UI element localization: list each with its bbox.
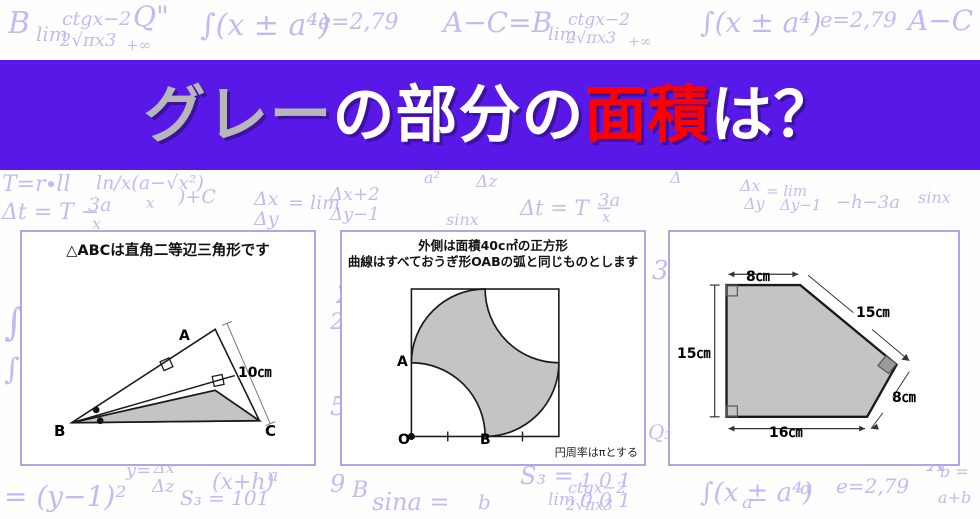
handwriting-formula-52: = (y−1)² <box>4 480 127 513</box>
handwriting-formula-26: 3a <box>88 194 111 216</box>
handwriting-formula-25: Δt = T − <box>2 200 99 225</box>
handwriting-formula-16: T=r∙ll <box>2 172 70 197</box>
problem-panel-1[interactable]: △ABCは直角二等辺三角形です A B C 10㎝ <box>20 230 316 466</box>
title-segment-2: 面積 <box>585 78 711 151</box>
handwriting-formula-74: 2√πx3 <box>566 496 613 514</box>
title-banner: グレーの部分の面積は？ <box>0 60 980 170</box>
page-title: グレーの部分の面積は？ <box>143 84 836 146</box>
handwriting-formula-28: sinx <box>446 210 479 229</box>
title-segment-3: は？ <box>711 78 837 151</box>
vertex-label-b: B <box>54 422 65 440</box>
title-segment-1: の部分の <box>332 78 584 151</box>
angle-dot-1 <box>93 407 100 414</box>
dimension-label-diagonal-upper: 15㎝ <box>856 302 889 322</box>
handwriting-formula-15: A−C <box>908 4 973 37</box>
measure-label-10cm: 10㎝ <box>238 362 271 382</box>
handwriting-formula-24: Δy−1 <box>330 204 380 225</box>
handwriting-formula-18: x <box>146 194 154 212</box>
title-segment-0: グレー <box>143 78 332 151</box>
handwriting-formula-73: ctgx−2 <box>568 478 626 497</box>
handwriting-formula-4: +∞ <box>126 36 151 54</box>
handwriting-formula-69: ∫(x ± a⁴) <box>700 478 813 508</box>
problem-panel-2[interactable]: 外側は面積40c㎡の正方形 曲線はすべておうぎ形OABの弧と同じものとします O… <box>340 230 646 466</box>
problem-panel-3[interactable]: 8㎝ 15㎝ 16㎝ 15㎝ 8㎝ <box>668 230 960 466</box>
vertex-label-a: A <box>397 354 408 370</box>
shaded-pinwheel <box>411 289 558 436</box>
handwriting-formula-20: Δx <box>254 188 278 210</box>
handwriting-formula-14: e=2,79 <box>820 8 897 32</box>
slide-canvas: Blimctgx−22√πx3+∞Q"∫(x ± a⁴)e=2,79A−C=Bl… <box>0 0 980 519</box>
dimension-label-top: 8㎝ <box>746 266 770 286</box>
handwriting-formula-10: ctgx−2 <box>568 10 630 30</box>
handwriting-formula-59: b <box>478 490 491 514</box>
handwriting-formula-60: S₃ = <box>520 462 574 490</box>
dimension-tick-top <box>222 321 232 325</box>
handwriting-formula-2: ctgx−2 <box>62 8 131 30</box>
dimension-label-left: 15㎝ <box>677 343 710 363</box>
vertex-label-a: A <box>179 328 190 344</box>
handwriting-formula-32: x <box>602 208 610 226</box>
handwriting-formula-39: Δ <box>670 168 682 187</box>
angle-dot-2 <box>97 417 104 424</box>
handwriting-formula-35: Δy <box>744 194 765 213</box>
dim-arrow-bottom-left <box>728 426 734 432</box>
vertex-label-b: B <box>480 432 491 448</box>
handwriting-formula-12: +∞ <box>628 34 651 50</box>
handwriting-formula-38: sinx <box>918 188 951 207</box>
handwriting-formula-21: Δy <box>254 208 278 230</box>
handwriting-formula-23: Δx+2 <box>330 184 380 205</box>
handwriting-formula-40: a² <box>424 168 440 187</box>
handwriting-formula-66: a+b <box>938 488 971 507</box>
handwriting-formula-19: )+C <box>178 186 216 208</box>
dim-arrow-top-right <box>792 271 798 277</box>
handwriting-formula-11: 2√πx3 <box>566 28 616 47</box>
dimension-label-diagonal-lower: 8㎝ <box>892 387 916 407</box>
handwriting-formula-57: a <box>268 466 278 486</box>
vertex-label-c: C <box>265 422 276 440</box>
panel-2-figure <box>342 232 644 464</box>
dim-arrow-bottom-right <box>859 426 865 432</box>
handwriting-formula-47: 9 <box>330 470 345 498</box>
panel-3-figure <box>670 232 958 464</box>
handwriting-formula-71: B <box>352 478 368 503</box>
dim-arrow-top-left <box>728 271 734 277</box>
handwriting-formula-0: B <box>8 6 30 41</box>
handwriting-formula-36: Δy−1 <box>780 196 821 214</box>
handwriting-formula-8: A−C=B <box>443 6 552 39</box>
handwriting-formula-6: ∫(x ± a⁴) <box>200 8 330 43</box>
handwriting-formula-3: 2√πx3 <box>60 30 116 51</box>
dimension-label-bottom: 16㎝ <box>769 422 802 442</box>
handwriting-formula-13: ∫(x ± a⁴) <box>700 6 821 39</box>
handwriting-formula-33: Δx <box>740 176 761 195</box>
handwriting-formula-7: e=2,79 <box>318 10 398 35</box>
handwriting-formula-58: sina = <box>372 488 450 516</box>
handwriting-formula-5: Q" <box>133 0 169 33</box>
handwriting-formula-70: e=2,79 <box>836 474 909 498</box>
handwriting-formula-29: Δz <box>476 172 497 192</box>
handwriting-formula-37: −h−3a <box>836 192 900 213</box>
handwriting-formula-67: S₃ = 101 <box>180 486 269 510</box>
vertex-label-o: O <box>398 432 410 448</box>
panel-2-note: 円周率はπとする <box>555 444 638 460</box>
handwriting-formula-42: ∫ <box>4 352 20 387</box>
handwriting-formula-55: Δz <box>152 476 174 497</box>
